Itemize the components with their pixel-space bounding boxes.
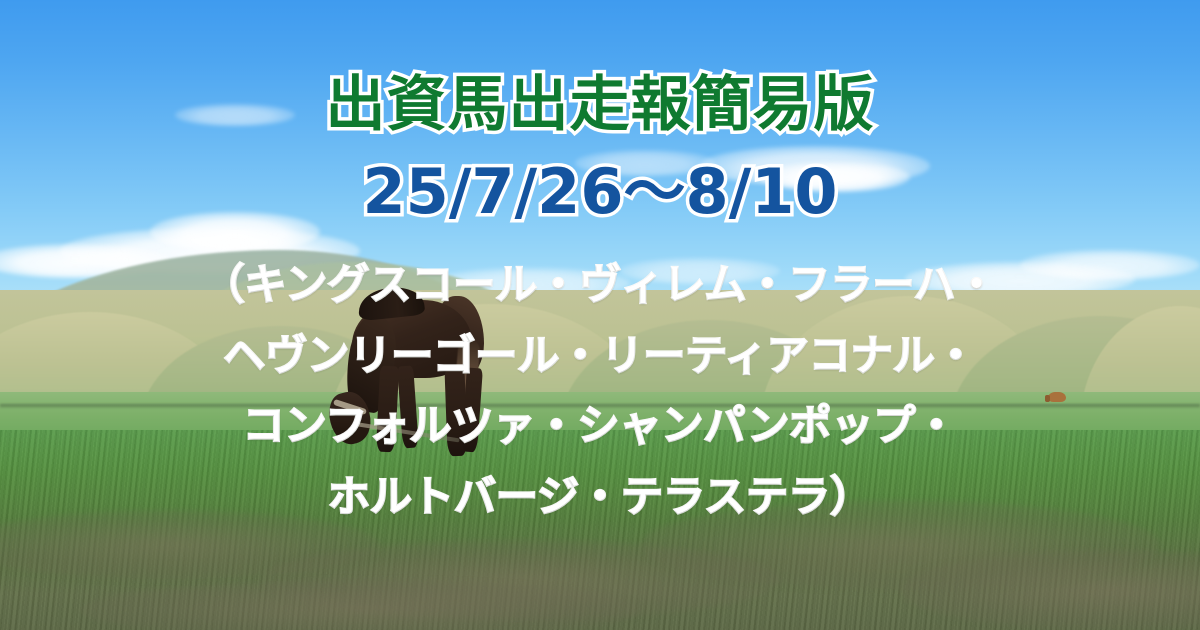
page-title: 出資馬出走報簡易版 — [326, 74, 875, 137]
horse-name-line: ホルトバージ・テラステラ） — [202, 462, 997, 533]
text-overlay: 出資馬出走報簡易版 25/7/26〜8/10 （キングスコール・ヴィレム・フラー… — [0, 0, 1200, 630]
horse-name-line: （キングスコール・ヴィレム・フラーハ・ — [202, 250, 997, 321]
date-range: 25/7/26〜8/10 — [362, 159, 837, 224]
horse-name-line: コンフォルツァ・シャンパンポップ・ — [202, 391, 997, 462]
horse-name-line: ヘヴンリーゴール・リーティアコナル・ — [202, 321, 997, 392]
banner-image: 出資馬出走報簡易版 25/7/26〜8/10 （キングスコール・ヴィレム・フラー… — [0, 0, 1200, 630]
horse-name-list: （キングスコール・ヴィレム・フラーハ・ ヘヴンリーゴール・リーティアコナル・ コ… — [202, 250, 997, 532]
